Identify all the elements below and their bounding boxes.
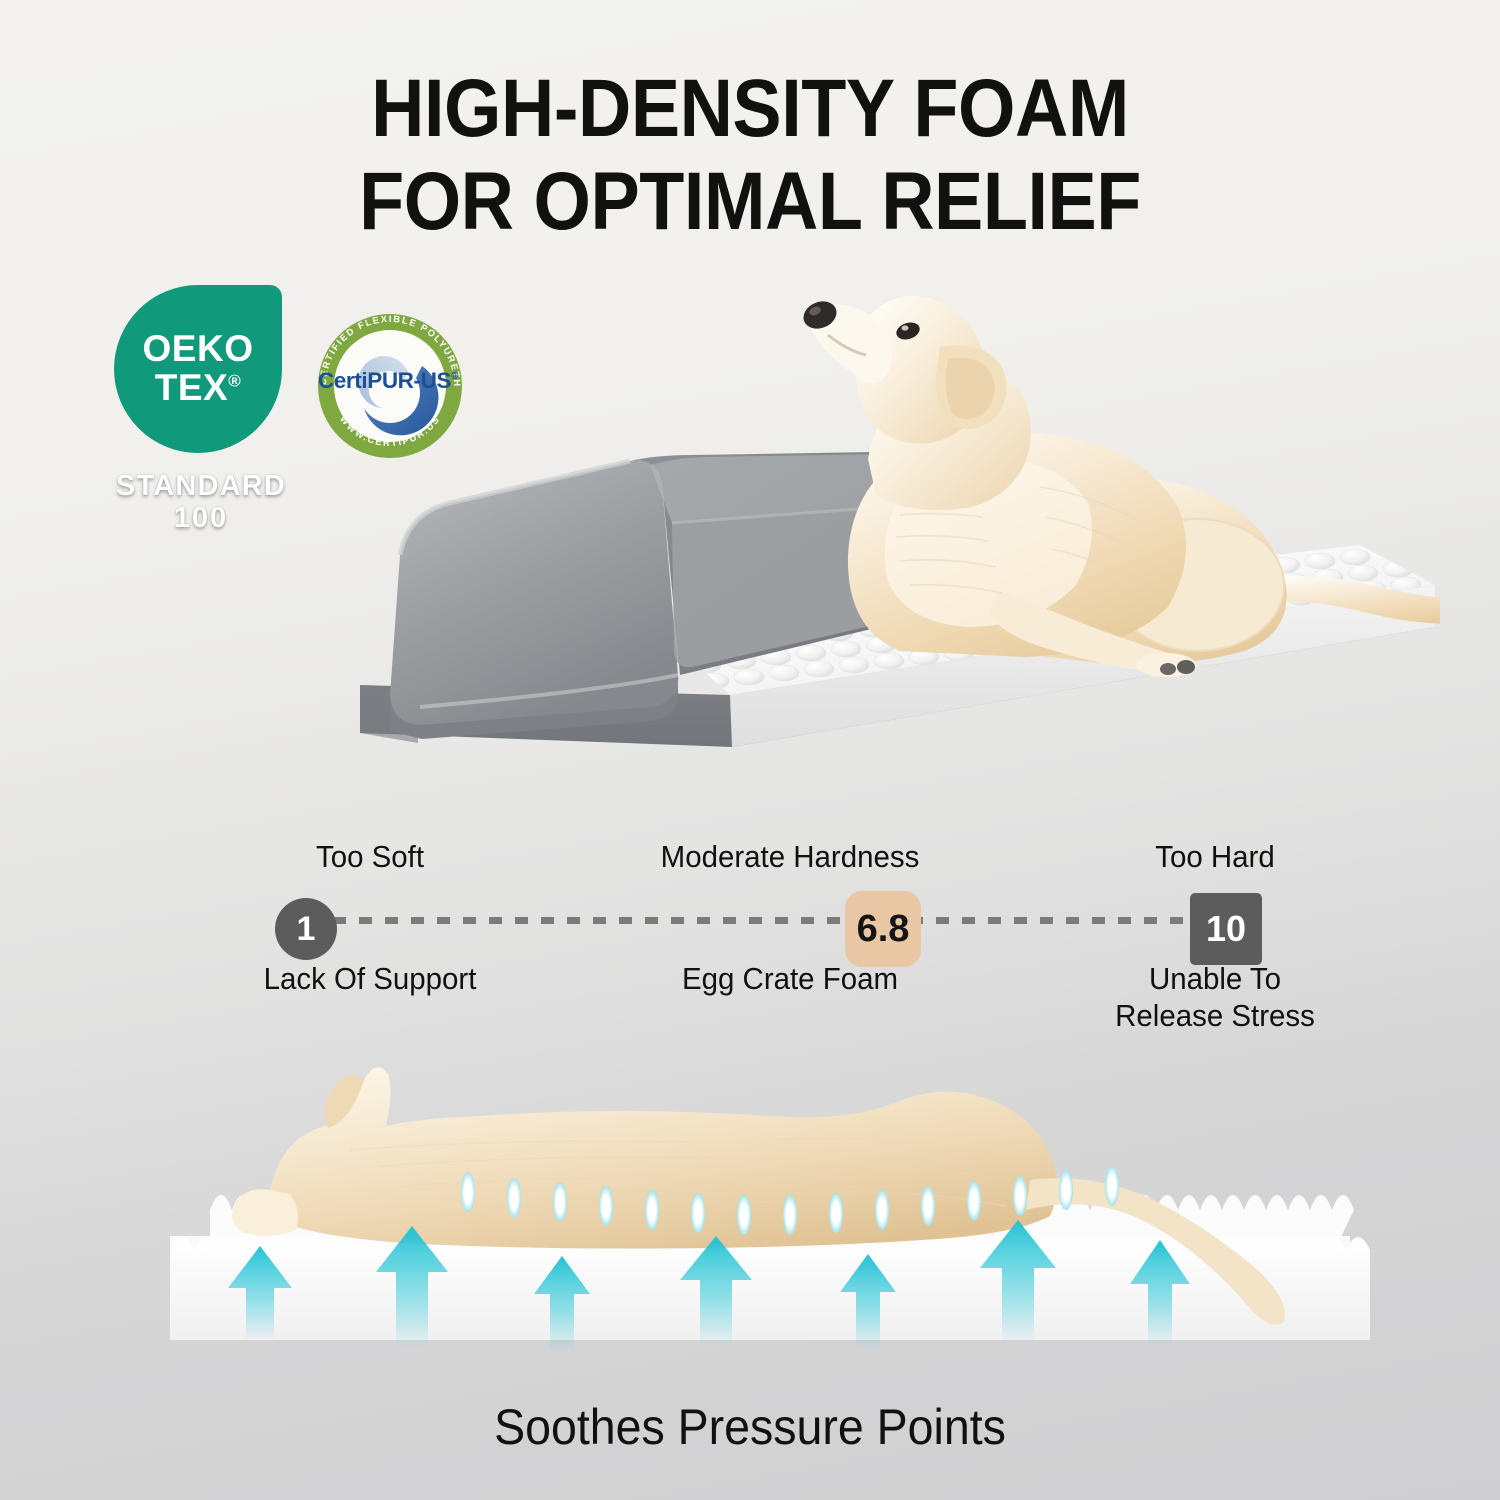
scale-bottom-labels: Lack Of Support Egg Crate Foam Unable To…: [150, 960, 1360, 1050]
scale-node-value: 6.8: [845, 891, 921, 967]
oeko-tex-line-2: TEX®: [155, 369, 242, 408]
product-photo-dog-on-bed: [300, 255, 1440, 800]
headline-line-2: FOR OPTIMAL RELIEF: [75, 155, 1425, 248]
hardness-scale: Too Soft Moderate Hardness Too Hard 1 6.…: [150, 838, 1360, 1053]
page-title: HIGH-DENSITY FOAM FOR OPTIMAL RELIEF: [75, 62, 1425, 249]
scale-node-min: 1: [275, 898, 337, 960]
scale-dashed-segment-right: [910, 917, 1195, 924]
bottom-caption: Soothes Pressure Points: [53, 1398, 1448, 1456]
headline-line-1: HIGH-DENSITY FOAM: [371, 63, 1129, 154]
label-too-soft: Too Soft: [213, 838, 527, 875]
oeko-tex-line-1: OEKO: [143, 330, 254, 367]
label-lack-of-support: Lack Of Support: [180, 960, 560, 997]
label-egg-crate-foam: Egg Crate Foam: [600, 960, 980, 997]
registered-mark-icon: ®: [228, 372, 241, 391]
label-too-hard: Too Hard: [1063, 838, 1367, 875]
oeko-tex-standard-label: STANDARD 100: [86, 470, 316, 535]
label-unable-to-release-stress: Unable To Release Stress: [1063, 960, 1367, 1034]
oeko-tex-badge-icon: OEKO TEX®: [114, 285, 282, 453]
infographic-canvas: HIGH-DENSITY FOAM FOR OPTIMAL RELIEF OEK…: [0, 0, 1500, 1500]
pressure-relief-illustration: [150, 1040, 1370, 1390]
label-moderate-hardness: Moderate Hardness: [600, 838, 980, 875]
scale-dashed-segment-left: [333, 917, 853, 924]
label-unable-line-1: Unable To: [1149, 961, 1281, 996]
oeko-standard-number: 100: [86, 502, 316, 534]
label-unable-line-2: Release Stress: [1115, 998, 1315, 1033]
scale-top-labels: Too Soft Moderate Hardness Too Hard: [150, 838, 1360, 882]
scale-track: 1 6.8 10: [150, 886, 1360, 956]
oeko-standard-word: STANDARD: [116, 470, 286, 502]
scale-node-max: 10: [1190, 893, 1262, 965]
